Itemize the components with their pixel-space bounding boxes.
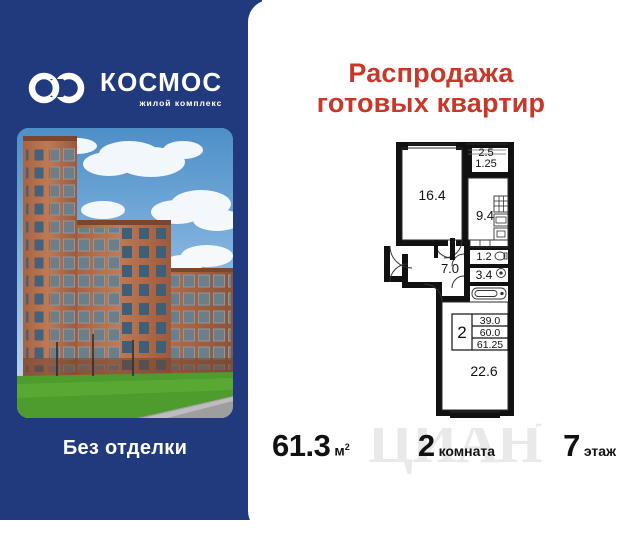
stat-floor-unit: этаж: [584, 443, 616, 459]
area-bedroom: 22.6: [470, 363, 497, 379]
residential-building-photo: [17, 128, 233, 418]
info-usable-area: 60.0: [480, 327, 501, 339]
brand-panel: КОСМОС жилой комплекс: [0, 0, 262, 521]
stat-floor-value: 7: [563, 428, 580, 464]
headline-line-2: готовых квартир: [248, 88, 614, 118]
stat-rooms-value: 2: [418, 428, 435, 464]
stat-area-unit: м2: [334, 442, 349, 459]
finish-label: Без отделки: [0, 437, 250, 460]
brand-tagline: жилой комплекс: [100, 99, 222, 108]
area-kitchen: 9.4: [476, 208, 494, 223]
floorplan[interactable]: 16.4 9.4 2.5 1.25 7.0 1.2 3.4 22.6 2 3: [366, 136, 536, 428]
area-wc: 1.2: [476, 251, 491, 263]
promo-card: КОСМОС жилой комплекс: [0, 0, 640, 533]
plan-info-box: 2 39.0 60.0 61.25: [452, 314, 508, 351]
card-bottom-strip: [0, 520, 640, 533]
page-title: Распродажа готовых квартир: [248, 58, 614, 118]
info-living-area: 39.0: [480, 315, 501, 327]
brand-name: КОСМОС: [100, 69, 222, 95]
infinity-icon: [28, 71, 90, 105]
brand-logo: КОСМОС жилой комплекс: [28, 62, 240, 114]
headline-line-1: Распродажа: [348, 58, 513, 88]
area-bathroom: 3.4: [476, 268, 493, 282]
stat-floor: 7 этаж: [563, 428, 616, 464]
stat-area: 61.3 м2: [272, 428, 350, 464]
info-rooms-count: 2: [457, 323, 466, 342]
stat-area-value: 61.3: [272, 428, 330, 464]
stat-rooms: 2 комната: [418, 428, 495, 464]
area-hallway: 7.0: [441, 261, 459, 276]
info-total-area: 61.25: [477, 339, 503, 351]
area-balcony-low: 1.25: [475, 158, 496, 170]
stat-rooms-unit: комната: [439, 443, 495, 459]
area-living-room: 16.4: [418, 187, 445, 203]
listing-stats: 61.3 м2 2 комната 7 этаж: [256, 428, 634, 470]
brand-text: КОСМОС жилой комплекс: [100, 69, 222, 108]
